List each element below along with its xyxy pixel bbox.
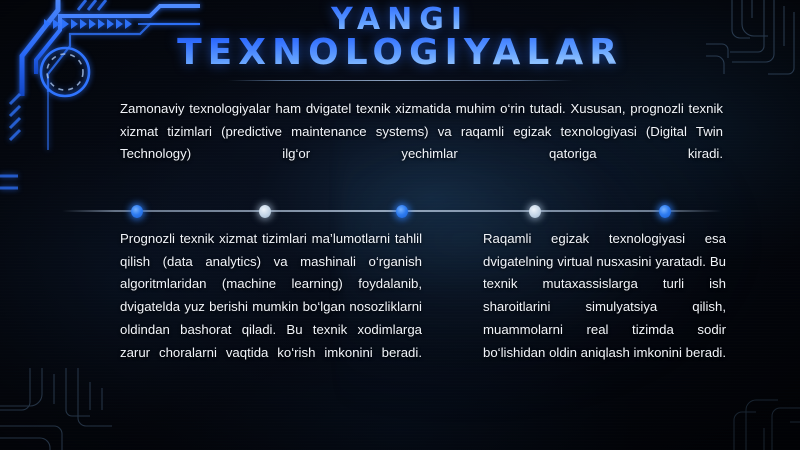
presentation-slide: YANGI TEXNOLOGIYALAR Zamonaviy texnologi… — [0, 0, 800, 450]
title-underline — [228, 80, 573, 81]
column-right-text: Raqamli egizak texnologiyasi esa dvigate… — [483, 228, 726, 387]
circuit-trace-top-right-icon — [706, 0, 800, 96]
timeline-dot-5 — [659, 205, 671, 218]
timeline-divider — [62, 203, 722, 219]
timeline-line — [62, 210, 722, 212]
intro-paragraph: Zamonaviy texnologiyalar ham dvigatel te… — [120, 98, 723, 189]
circuit-trace-bottom-right-icon — [716, 378, 800, 450]
timeline-dot-1 — [131, 205, 143, 218]
timeline-dot-3 — [396, 205, 408, 218]
timeline-dot-4 — [529, 205, 541, 218]
timeline-dot-2 — [259, 205, 271, 218]
column-left-text: Prognozli texnik xizmat tizimlari ma’lum… — [120, 228, 422, 387]
circuit-trace-bottom-left-icon — [0, 368, 112, 450]
